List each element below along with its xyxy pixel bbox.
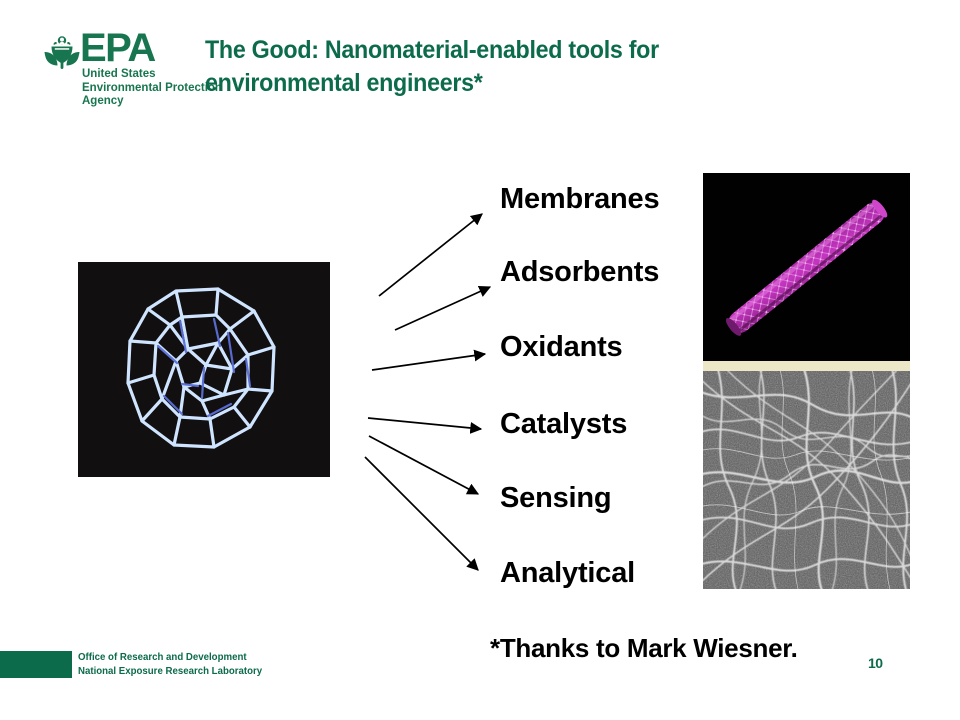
tool-label-catalysts: Catalysts xyxy=(500,408,627,441)
epa-wordmark: EPA xyxy=(80,28,155,68)
arrow-to-sensing xyxy=(369,436,478,494)
epa-seal-icon xyxy=(42,32,82,72)
tool-label-adsorbents: Adsorbents xyxy=(500,256,659,289)
tool-label-membranes: Membranes xyxy=(500,183,659,216)
tool-label-oxidants: Oxidants xyxy=(500,331,623,364)
slide-title-line-1: The Good: Nanomaterial-enabled tools for xyxy=(205,34,735,67)
arrow-to-adsorbents xyxy=(395,287,490,330)
epa-logo: EPA United States Environmental Protecti… xyxy=(42,28,212,116)
arrow-to-catalysts xyxy=(368,418,481,429)
epa-agency-subtext: United States Environmental Protection A… xyxy=(82,68,222,109)
slide-title: The Good: Nanomaterial-enabled tools for… xyxy=(205,34,735,100)
arrow-to-membranes xyxy=(379,214,482,296)
footer-line-2: National Exposure Research Laboratory xyxy=(78,664,262,678)
epa-subtext-line-1: United States xyxy=(82,68,222,82)
slide-canvas: EPA United States Environmental Protecti… xyxy=(0,0,960,720)
arrow-to-oxidants xyxy=(372,354,485,370)
carbon-nanotube-render-image xyxy=(703,173,910,361)
slide-title-line-2: environmental engineers* xyxy=(205,67,735,100)
footer-office-text: Office of Research and Development Natio… xyxy=(78,650,262,678)
epa-subtext-line-3: Agency xyxy=(82,95,222,109)
footer-accent-bar xyxy=(0,651,72,678)
nanotube-mat-sem-image xyxy=(703,371,910,589)
page-number: 10 xyxy=(868,655,883,671)
epa-subtext-line-2: Environmental Protection xyxy=(82,82,222,96)
fullerene-buckyball-image xyxy=(78,262,330,477)
tool-label-analytical: Analytical xyxy=(500,557,635,590)
footer-line-1: Office of Research and Development xyxy=(78,650,262,664)
image-divider-band xyxy=(703,361,910,371)
arrow-to-analytical xyxy=(365,457,478,570)
tool-label-sensing: Sensing xyxy=(500,482,611,515)
credit-note: *Thanks to Mark Wiesner. xyxy=(490,633,798,664)
